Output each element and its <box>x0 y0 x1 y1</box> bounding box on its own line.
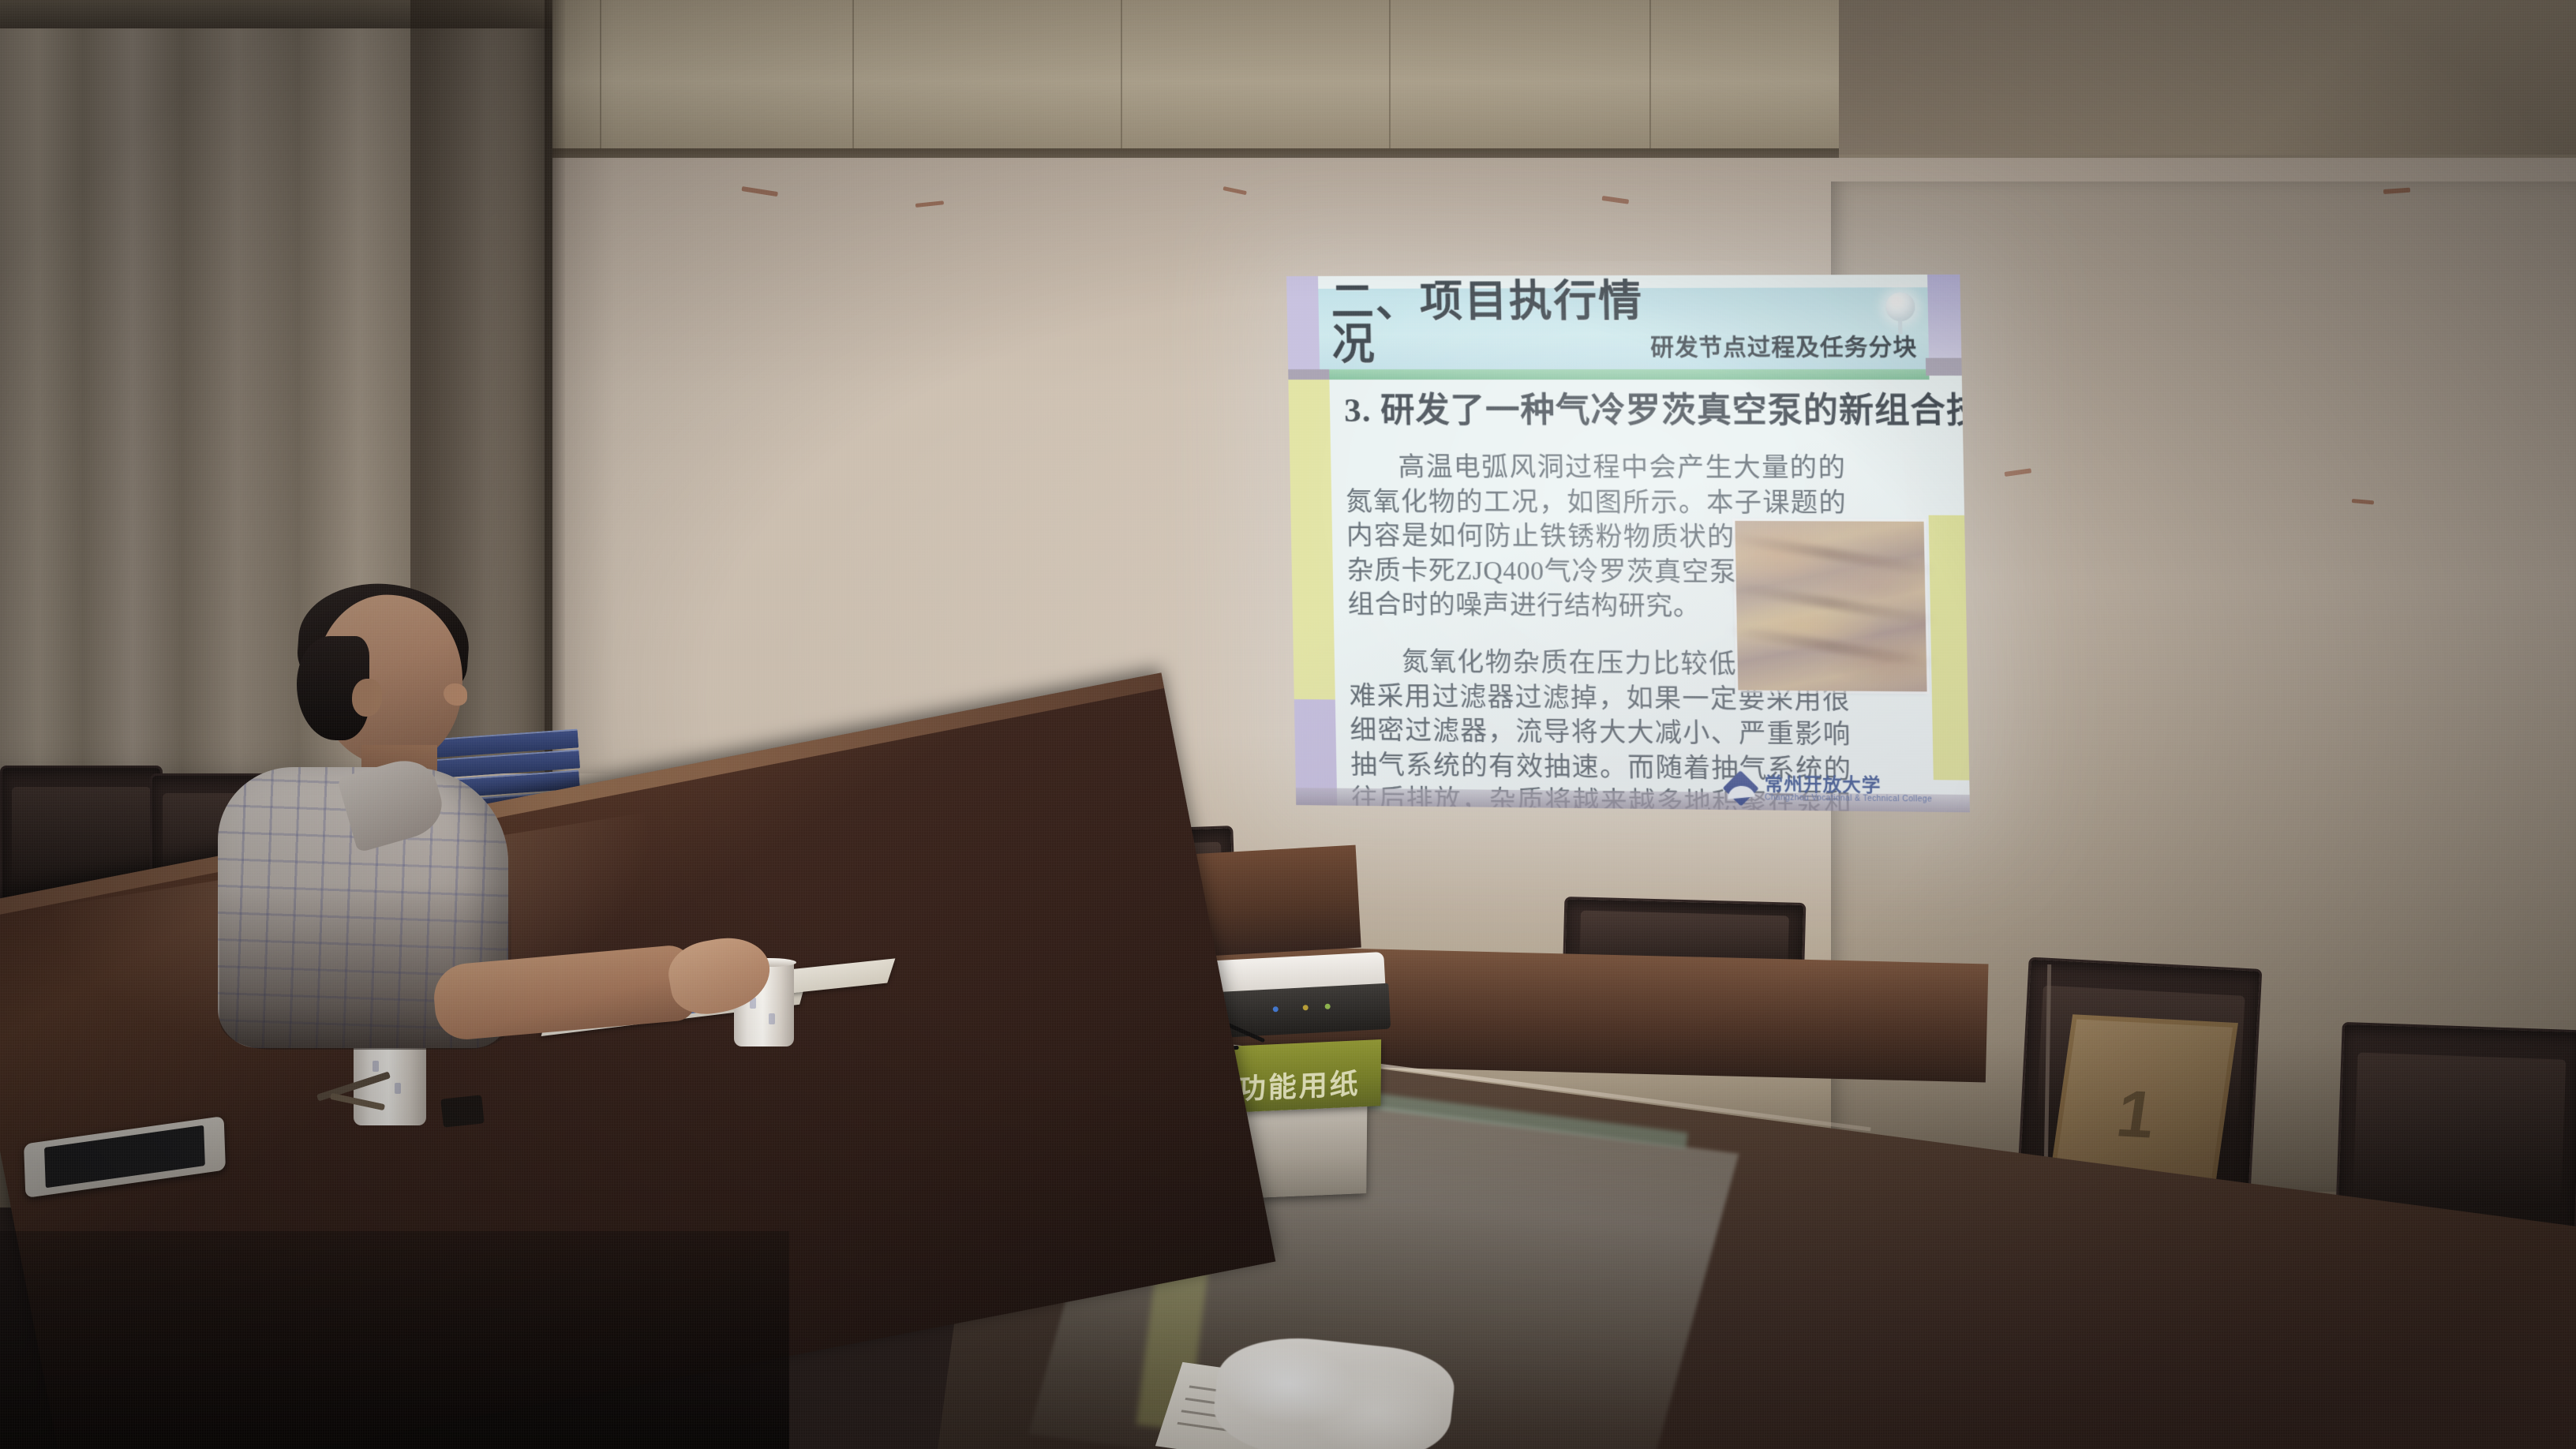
slide-rule-right <box>1926 358 1962 376</box>
slide-title-sub: 研发节点过程及任务分块 <box>1650 329 1918 366</box>
meeting-room-photo: 二、项目执行情况 研发节点过程及任务分块 3. 研发了一种气冷罗茨真空泵的新组合… <box>0 0 2576 1449</box>
sun-decoration-icon <box>1885 292 1915 321</box>
diamond-logo-icon <box>1722 769 1760 807</box>
slide-rule-left <box>1288 369 1329 380</box>
logo-name-cn: 常州开放大学 <box>1765 775 1933 796</box>
projected-slide: 二、项目执行情况 研发节点过程及任务分块 3. 研发了一种气冷罗茨真空泵的新组合… <box>1286 275 1970 813</box>
slide-accent-yellow-left <box>1288 369 1335 699</box>
ear <box>352 679 382 717</box>
slide-green-rule <box>1329 369 1929 380</box>
rust-deposit-photo <box>1735 521 1926 691</box>
slide-content: 3. 研发了一种气冷罗茨真空泵的新组合技术 高温电弧风洞过程中会产生大量的的氮氧… <box>1329 380 1934 812</box>
logo-name-en: Changzhou Vocational & Technical College <box>1765 794 1932 804</box>
slide-title-main: 二、项目执行情况 <box>1331 280 1648 366</box>
slide-accent-purple-top-right <box>1927 275 1961 358</box>
slide-body: 高温电弧风洞过程中会产生大量的的氮氧化物的工况，如图所示。本子课题的内容是如何防… <box>1345 450 1853 812</box>
slide-heading: 3. 研发了一种气冷罗茨真空泵的新组合技术 <box>1344 392 1919 430</box>
slide-surface: 二、项目执行情况 研发节点过程及任务分块 3. 研发了一种气冷罗茨真空泵的新组合… <box>1286 275 1970 813</box>
slide-accent-purple-top-left <box>1286 276 1320 369</box>
college-logo: 常州开放大学 Changzhou Vocational & Technical … <box>1722 769 1932 808</box>
hand <box>664 931 776 1020</box>
slide-title-bar: 二、项目执行情况 研发节点过程及任务分块 <box>1318 287 1929 373</box>
seated-presenter <box>197 584 766 1136</box>
nose <box>444 683 467 706</box>
slide-accent-yellow-right <box>1929 515 1970 781</box>
